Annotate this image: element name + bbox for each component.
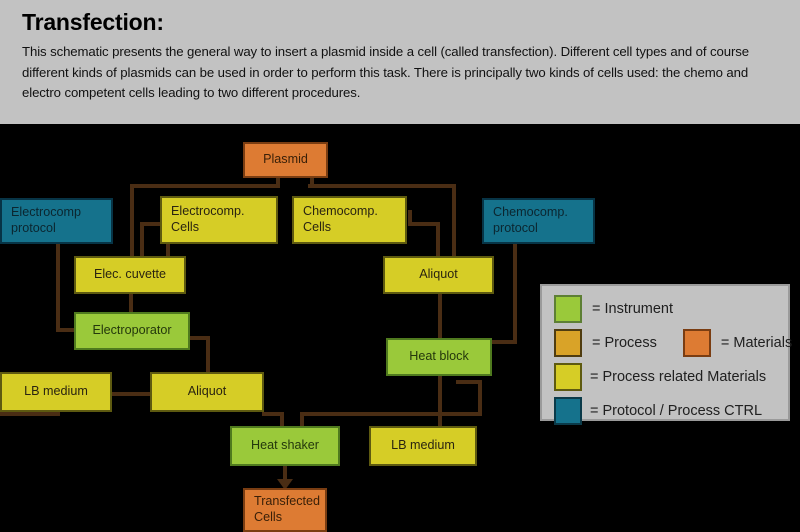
legend-label-process-related-materials: = Process related Materials	[590, 369, 766, 385]
page-title: Transfection:	[22, 10, 778, 35]
connector-left-edge-rail	[0, 412, 60, 416]
header-panel: Transfection: This schematic presents th…	[0, 0, 800, 124]
connector-plasmid-left-rail	[130, 184, 280, 188]
connector-heatblock-right-out	[456, 380, 482, 384]
legend-row-process-related-materials: = Process related Materials	[554, 363, 776, 391]
node-chemocomp-protocol-label: Chemocomp. protocol	[493, 205, 584, 236]
node-heat-shaker-label: Heat shaker	[251, 438, 319, 454]
connector-electroporator-drop	[206, 336, 210, 374]
node-aliquot-right[interactable]: Aliquot	[383, 256, 494, 294]
node-electrocomp-protocol[interactable]: Electrocomp protocol	[0, 198, 113, 244]
node-elec-cuvette-label: Elec. cuvette	[94, 267, 166, 283]
node-electroporator-label: Electroporator	[92, 323, 171, 339]
connector-plasmid-right-rail	[308, 184, 456, 188]
connector-right-rail-to-heatshaker	[300, 412, 482, 416]
node-heat-shaker[interactable]: Heat shaker	[230, 426, 340, 466]
legend-row-process: = Process = Materials	[554, 329, 776, 357]
header-description: This schematic presents the general way …	[22, 42, 778, 103]
connector-chemocomp-protocol-down	[513, 236, 517, 344]
legend-swatch-process	[554, 329, 582, 357]
connector-lbmedium-to-aliquot	[112, 392, 152, 396]
diagram-page: Transfection: This schematic presents th…	[0, 0, 800, 532]
node-aliquot-left-label: Aliquot	[188, 384, 227, 400]
connector-electrocomp-protocol-down	[56, 244, 60, 330]
connector-heatblock-to-lbmedium	[438, 371, 442, 426]
legend-label-materials: = Materials	[721, 335, 792, 351]
legend-swatch-materials	[683, 329, 711, 357]
legend-label-instrument: = Instrument	[592, 301, 673, 317]
node-plasmid-label: Plasmid	[263, 152, 308, 168]
legend-panel: = Instrument = Process = Materials = Pro…	[540, 284, 790, 421]
legend-swatch-instrument	[554, 295, 582, 323]
node-transfected-cells-label: Transfected Cells	[254, 494, 320, 525]
connector-chemocomp-cells-stub	[408, 210, 412, 224]
node-chemocomp-cells[interactable]: Chemocomp. Cells	[292, 196, 407, 244]
node-heat-block-label: Heat block	[409, 349, 469, 365]
diagram-canvas: Plasmid Electrocomp protocol Electrocomp…	[0, 124, 800, 532]
legend-swatch-protocol	[554, 397, 582, 425]
node-electroporator[interactable]: Electroporator	[74, 312, 190, 350]
node-electrocomp-protocol-label: Electrocomp protocol	[11, 205, 102, 236]
connector-chemocomp-cells-drop	[436, 222, 440, 258]
connector-rail-right-drop	[452, 184, 456, 256]
node-electrocomp-cells[interactable]: Electrocomp. Cells	[160, 196, 278, 244]
connector-aliquot-to-heatblock	[438, 289, 442, 341]
connector-right-rail-up	[478, 380, 482, 414]
node-electrocomp-cells-label: Electrocomp. Cells	[171, 204, 267, 235]
legend-row-instrument: = Instrument	[554, 295, 776, 323]
node-aliquot-left[interactable]: Aliquot	[150, 372, 264, 412]
node-aliquot-right-label: Aliquot	[419, 267, 458, 283]
node-transfected-cells[interactable]: Transfected Cells	[243, 488, 327, 532]
legend-row-protocol: = Protocol / Process CTRL	[554, 397, 776, 425]
legend-label-process: = Process	[592, 335, 657, 351]
node-chemocomp-cells-label: Chemocomp. Cells	[303, 204, 396, 235]
node-heat-block[interactable]: Heat block	[386, 338, 492, 376]
node-lb-medium-right-label: LB medium	[391, 438, 455, 454]
legend-swatch-process-related-materials	[554, 363, 582, 391]
node-plasmid[interactable]: Plasmid	[243, 142, 328, 178]
node-chemocomp-protocol[interactable]: Chemocomp. protocol	[482, 198, 595, 244]
legend-label-protocol: = Protocol / Process CTRL	[590, 403, 762, 419]
node-lb-medium-left-label: LB medium	[24, 384, 88, 400]
connector-rail-left-drop	[130, 184, 134, 256]
node-lb-medium-right[interactable]: LB medium	[369, 426, 477, 466]
connector-electrocomp-cells-drop	[140, 222, 144, 258]
node-elec-cuvette[interactable]: Elec. cuvette	[74, 256, 186, 294]
node-lb-medium-left[interactable]: LB medium	[0, 372, 112, 412]
